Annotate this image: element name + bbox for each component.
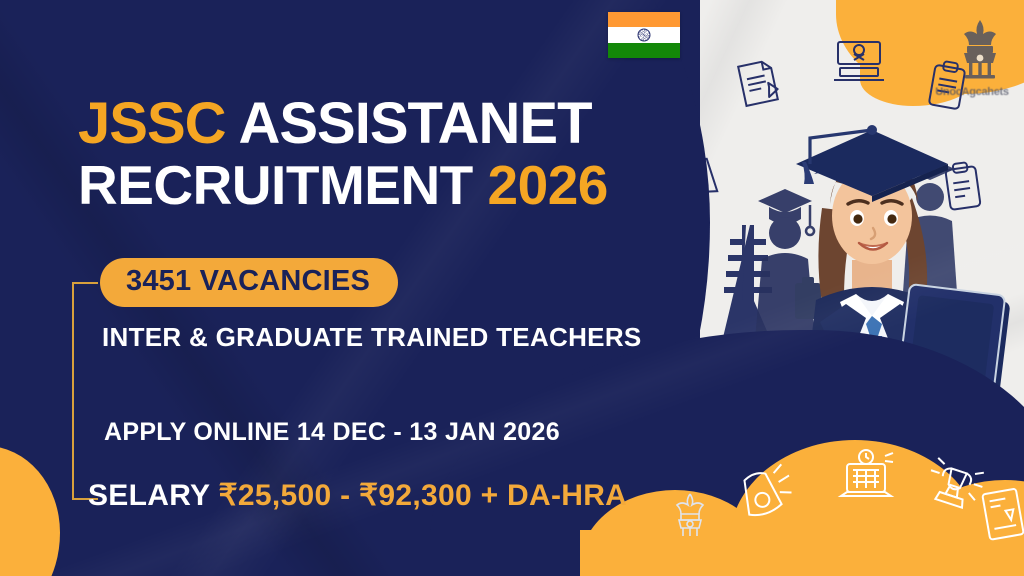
recruitment-poster: UnocAgcahets JSSC ASSISTANET RECRUITMENT…: [0, 0, 1024, 576]
watermark-text: UnocAgcahets: [920, 86, 1024, 98]
calculator-laptop-icon: [835, 448, 897, 504]
announcement-bell-icon: [735, 465, 793, 519]
salary-line: SELARY ₹25,500 - ₹92,300 + DA-HRA: [88, 478, 627, 513]
certificate-icon: [980, 485, 1024, 543]
apply-line: APPLY ONLINE 14 DEC - 13 JAN 2026: [104, 418, 560, 447]
trophy-icon: [925, 462, 981, 518]
vacancies-badge: 3451 VACANCIES: [100, 258, 398, 307]
page-title: JSSC ASSISTANET RECRUITMENT 2026: [78, 96, 608, 213]
headline-recruitment: RECRUITMENT: [78, 154, 473, 216]
headline-assistanet: ASSISTANET: [238, 91, 591, 156]
india-flag-icon: [608, 12, 680, 58]
gold-bracket-decoration: [72, 282, 98, 500]
ashoka-chakra-icon: [638, 28, 651, 41]
salary-amount: ₹25,500 - ₹92,300 + DA-HRA: [218, 479, 627, 512]
india-national-emblem-icon: [956, 18, 1004, 80]
india-national-emblem-icon: [670, 490, 710, 540]
headline-jssc: JSSC: [78, 91, 226, 156]
headline-year: 2026: [488, 154, 608, 216]
roles-line: INTER & GRADUATE TRAINED TEACHERS: [102, 322, 642, 353]
salary-label: SELARY: [88, 479, 210, 512]
